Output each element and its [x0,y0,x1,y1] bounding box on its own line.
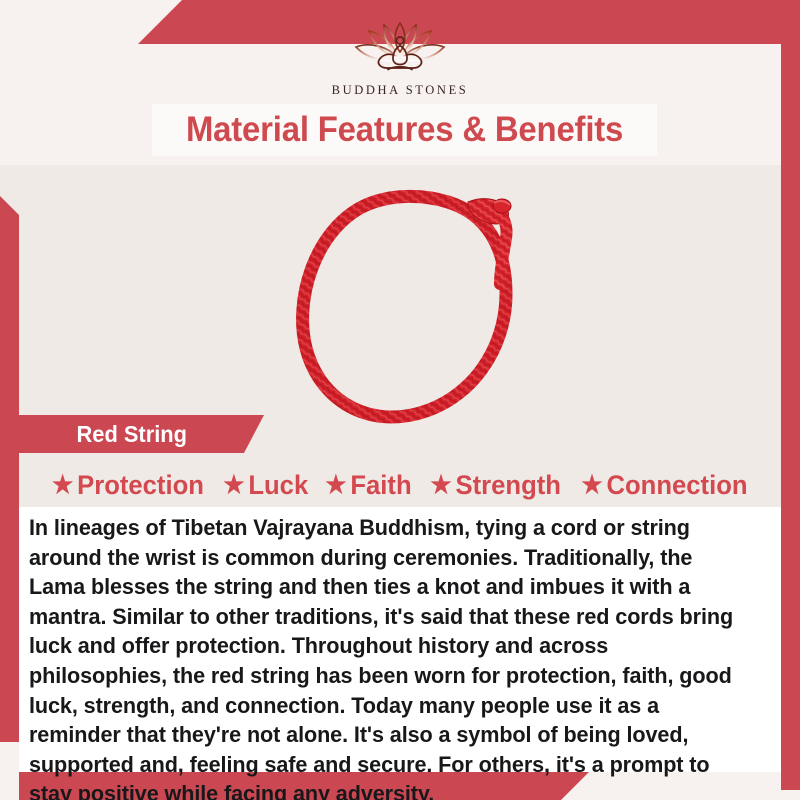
product-image-red-string-bracelet [210,172,610,442]
benefits-list: ★ Protection ★ Luck ★ Faith ★ Strength ★… [19,468,781,502]
benefit-label: Faith [350,470,411,501]
infographic-poster: BUDDHA STONES Material Features & Benefi… [0,0,800,800]
benefit-label: Strength [456,470,561,501]
star-icon: ★ [52,473,73,498]
benefit-item: ★ Connection [582,470,748,501]
material-label-banner: Red String [19,415,264,453]
star-icon: ★ [430,473,451,498]
benefit-item: ★ Strength [430,470,561,501]
benefit-item: ★ Faith [325,470,411,501]
description-text: In lineages of Tibetan Vajrayana Buddhis… [29,513,733,800]
material-label: Red String [23,421,187,448]
decor-right-strip [781,44,800,790]
page-title: Material Features & Benefits [186,110,623,150]
star-icon: ★ [582,473,603,498]
description-panel: In lineages of Tibetan Vajrayana Buddhis… [19,507,781,772]
brand-name: BUDDHA STONES [332,83,469,98]
brand-logo: BUDDHA STONES [0,20,800,98]
title-banner: Material Features & Benefits [152,104,657,156]
star-icon: ★ [223,473,244,498]
benefit-label: Connection [607,470,748,501]
lotus-meditation-icon [336,20,464,82]
benefit-label: Luck [248,470,308,501]
decor-left-strip [0,196,19,742]
benefit-item: ★ Protection [52,470,204,501]
benefit-label: Protection [77,470,204,501]
star-icon: ★ [325,473,346,498]
benefit-item: ★ Luck [223,470,308,501]
